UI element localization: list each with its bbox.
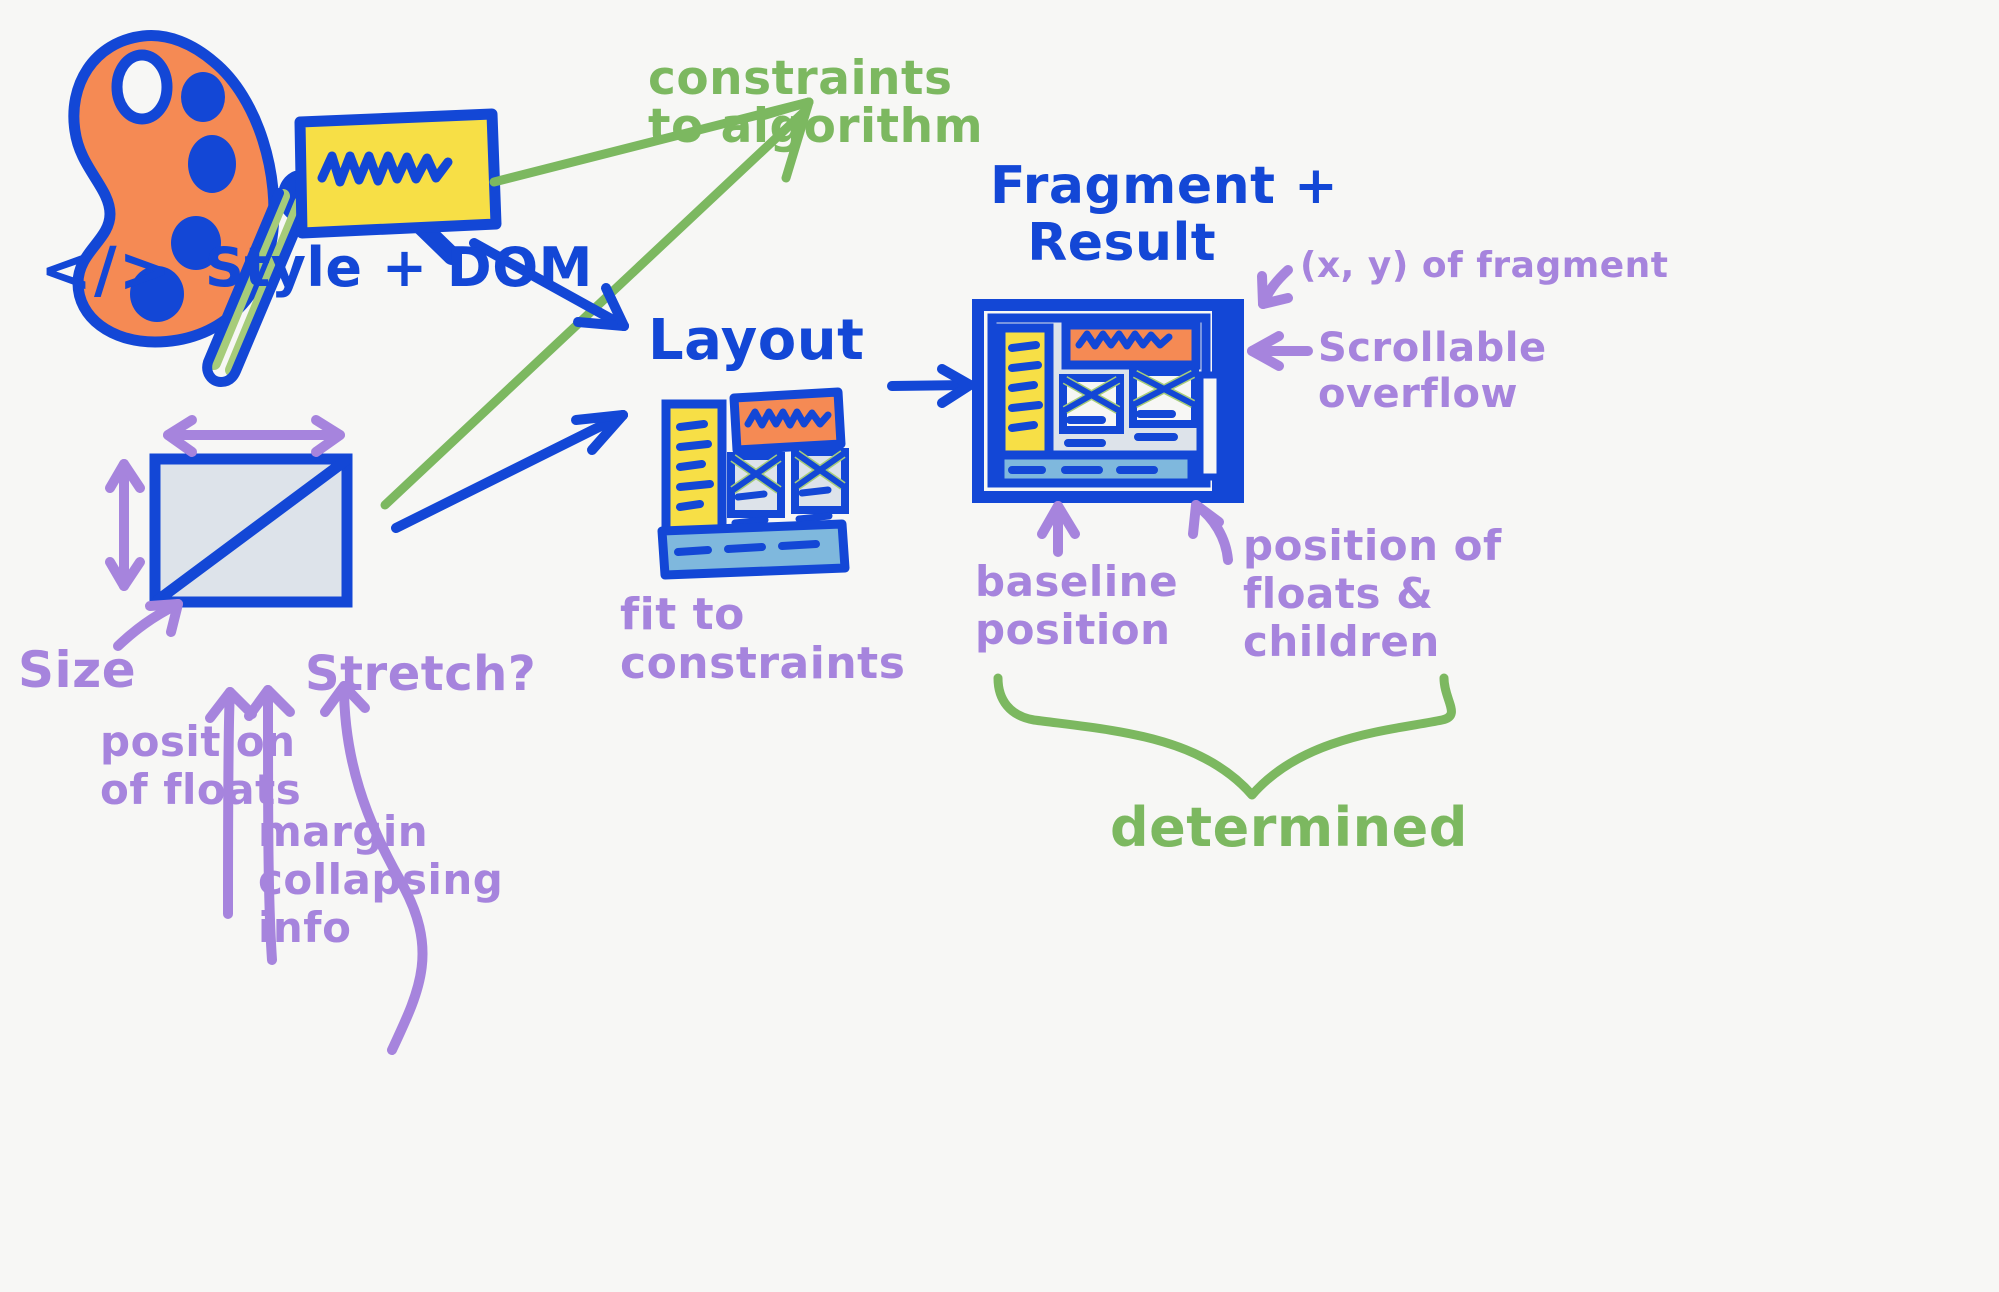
layout-label: Layout xyxy=(648,312,864,369)
green-curly-brace-icon xyxy=(998,678,1451,795)
fragment-result-mockup-icon xyxy=(978,305,1238,497)
position-of-floats-children-label: position of floats & children xyxy=(1243,522,1502,666)
purple-arrow-icon xyxy=(1252,336,1308,366)
height-double-arrow-icon xyxy=(110,464,140,586)
highlighted-text-icon xyxy=(300,114,496,233)
purple-arrow-icon xyxy=(118,604,178,646)
style-dom-label: Style + DOM xyxy=(205,240,593,295)
fit-to-constraints-label: fit to constraints xyxy=(620,590,905,689)
scrollbar-icon[interactable] xyxy=(1200,375,1220,477)
fragment-result-label: Fragment + Result xyxy=(990,158,1338,272)
purple-arrow-icon xyxy=(1193,505,1228,560)
scrollable-overflow-label: Scrollable overflow xyxy=(1318,325,1547,417)
layout-mockup-icon xyxy=(662,392,845,575)
constraint-box-icon xyxy=(155,459,347,602)
purple-arrow-icon xyxy=(1042,506,1075,552)
diagram-canvas: .bs{fill:none;stroke:#1347d6;stroke-line… xyxy=(0,0,1999,1292)
xy-of-fragment-label: (x, y) of fragment xyxy=(1300,248,1669,285)
size-label: Size xyxy=(18,645,136,696)
stretch-label: Stretch? xyxy=(305,650,536,699)
width-double-arrow-icon xyxy=(168,420,340,452)
blue-arrow-icon xyxy=(892,369,970,403)
baseline-position-label: baseline position xyxy=(975,558,1178,654)
determined-label: determined xyxy=(1110,800,1468,855)
blue-arrow-icon xyxy=(396,415,623,528)
margin-collapsing-info-label: margin collapsing info xyxy=(258,808,503,952)
code-tag-icon: </> xyxy=(40,238,173,301)
purple-arrow-icon xyxy=(1262,270,1288,304)
constraints-to-algorithm-label: constraints to algorithm xyxy=(648,55,983,151)
position-of-floats-label: position of floats xyxy=(100,718,301,814)
